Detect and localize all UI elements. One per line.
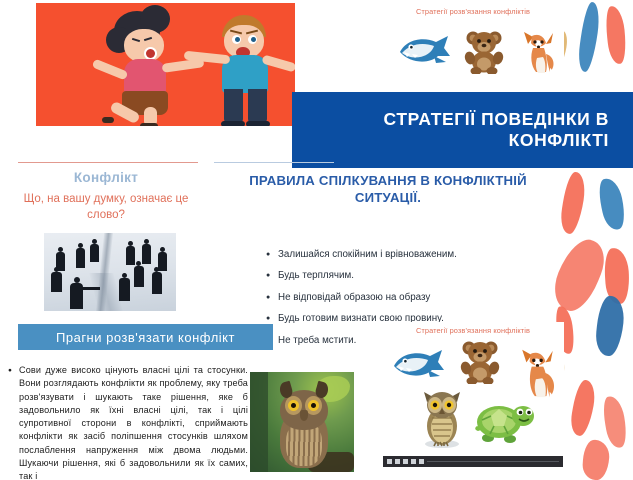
- divider-blue-middle: [214, 162, 334, 163]
- great-horned-owl-photo: [250, 372, 354, 472]
- player-pause-button[interactable]: [395, 459, 400, 464]
- media-player-bar[interactable]: [383, 456, 563, 467]
- fox-icon: [518, 346, 558, 402]
- shark-icon: [390, 344, 446, 384]
- player-play-button[interactable]: [387, 459, 392, 464]
- rules-heading: ПРАВИЛА СПІЛКУВАННЯ В КОНФЛІКТНІЙ СИТУАЦ…: [216, 172, 560, 206]
- slide-title-block: СТРАТЕГІЇ ПОВЕДІНКИ В КОНФЛІКТІ: [292, 92, 633, 168]
- brush-stroke-decoration: [555, 0, 633, 480]
- resolve-conflict-banner: Прагни розв'язати конфлікт: [18, 324, 273, 350]
- list-item: Будь терплячим.: [266, 270, 596, 282]
- owl-description-block: Сови дуже високо цінують власні цілі та …: [8, 364, 248, 480]
- teddy-bear-icon: [460, 338, 500, 384]
- konflikt-question: Що, на вашу думку, означає це слово?: [6, 192, 206, 223]
- fox-icon: [520, 30, 558, 76]
- list-item: Не відповідай образою на образу: [266, 292, 596, 304]
- rules-heading-line2: СИТУАЦІЇ.: [216, 189, 560, 206]
- player-volume-button[interactable]: [419, 459, 424, 464]
- bottom-right-animals-panel: Стратегії розв'язання конфліктів: [382, 322, 564, 480]
- owl-description-text: Сови дуже високо цінують власні цілі та …: [8, 364, 248, 480]
- top-right-panel-caption: Стратегії розв'язання конфліктів: [382, 7, 564, 16]
- turtle-icon: [474, 396, 536, 444]
- player-settings-button[interactable]: [411, 459, 416, 464]
- shark-icon: [396, 30, 452, 70]
- resolve-conflict-banner-label: Прагни розв'язати конфлікт: [56, 330, 235, 345]
- owl-icon: [420, 388, 464, 450]
- player-progress-track[interactable]: [427, 461, 559, 462]
- cartoon-arguing-children-panel: [36, 3, 295, 126]
- player-fullscreen-button[interactable]: [403, 459, 408, 464]
- bottom-right-panel-caption: Стратегії розв'язання конфліктів: [382, 326, 564, 335]
- list-item: Залишайся спокійним і врівноваженим.: [266, 249, 596, 261]
- slide-title-line2: КОНФЛІКТІ: [384, 130, 609, 151]
- business-people-silhouettes-image: [44, 233, 176, 311]
- slide-canvas: Стратегії розв'язання конфліктів: [0, 0, 633, 480]
- konflikt-heading: Конфлікт: [0, 170, 212, 185]
- top-right-animals-panel: Стратегії розв'язання конфліктів: [382, 2, 564, 94]
- teddy-bear-icon: [464, 28, 504, 74]
- slide-title-line1: СТРАТЕГІЇ ПОВЕДІНКИ В: [384, 109, 609, 130]
- rules-heading-line1: ПРАВИЛА СПІЛКУВАННЯ В КОНФЛІКТНІЙ: [216, 172, 560, 189]
- divider-coral-left: [18, 162, 198, 163]
